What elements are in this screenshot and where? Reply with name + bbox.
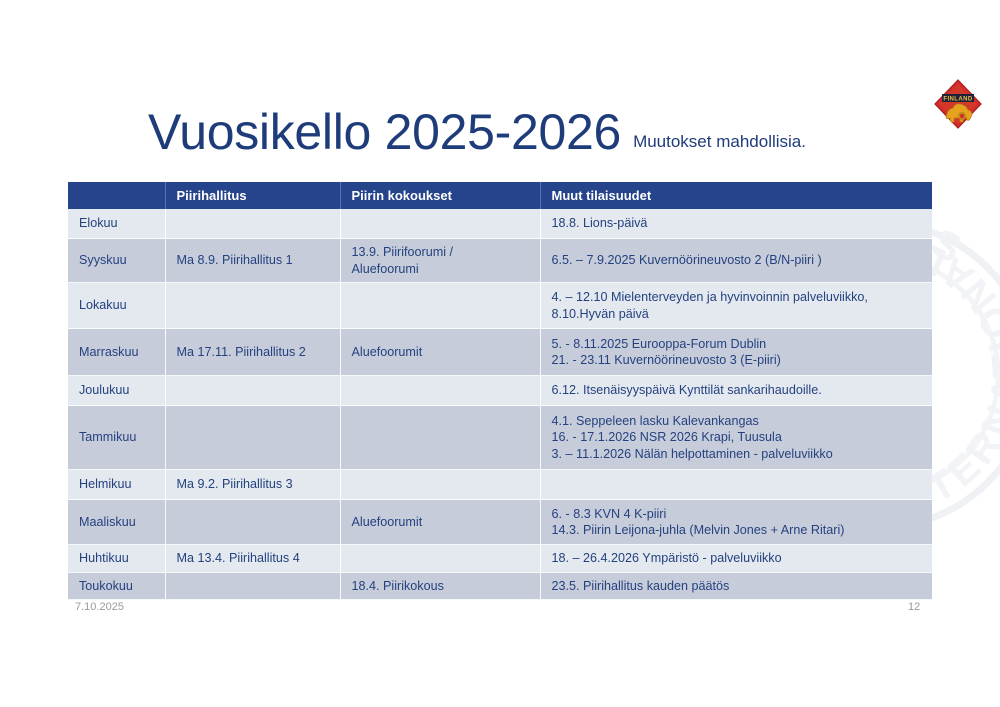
table-row: Toukokuu 18.4. Piirikokous 23.5. Piiriha… (68, 572, 932, 600)
column-header-month (68, 182, 165, 209)
table-row: Marraskuu Ma 17.11. Piirihallitus 2 Alue… (68, 329, 932, 376)
cell-other: 6.12. Itsenäisyyspäivä Kynttilät sankari… (540, 376, 932, 406)
footer-date: 7.10.2025 (75, 601, 124, 613)
cell-line: 8.10.Hyvän päivä (552, 306, 925, 323)
cell-meetings (340, 470, 540, 500)
cell-line: Aluefoorumi (352, 261, 532, 278)
cell-month: Huhtikuu (68, 545, 165, 573)
page-title: Vuosikello 2025-2026 (148, 103, 621, 161)
table-header-row: Piirihallitus Piirin kokoukset Muut tila… (68, 182, 932, 209)
cell-meetings (340, 209, 540, 239)
lions-club-finland-emblem: FINLAND (932, 78, 984, 132)
cell-board: Ma 9.2. Piirihallitus 3 (165, 470, 340, 500)
cell-board (165, 406, 340, 470)
cell-other: 6.5. – 7.9.2025 Kuvernöörineuvosto 2 (B/… (540, 239, 932, 283)
cell-other: 23.5. Piirihallitus kauden päätös (540, 572, 932, 600)
cell-line: 18. – 26.4.2026 Ympäristö - palveluviikk… (552, 550, 925, 567)
column-header-meetings: Piirin kokoukset (340, 182, 540, 209)
footer-page-number: 12 (908, 601, 920, 613)
cell-board: Ma 8.9. Piirihallitus 1 (165, 239, 340, 283)
table-row: Maaliskuu Aluefoorumit 6. - 8.3 KVN 4 K-… (68, 500, 932, 545)
cell-month: Tammikuu (68, 406, 165, 470)
cell-month: Joulukuu (68, 376, 165, 406)
cell-month: Marraskuu (68, 329, 165, 376)
svg-text:FINLAND: FINLAND (943, 97, 972, 103)
cell-line: 13.9. Piirifoorumi / (352, 244, 532, 261)
cell-line: 14.3. Piirin Leijona-juhla (Melvin Jones… (552, 522, 925, 539)
cell-other: 4. – 12.10 Mielenterveyden ja hyvinvoinn… (540, 283, 932, 329)
cell-board (165, 283, 340, 329)
table-row: Huhtikuu Ma 13.4. Piirihallitus 4 18. – … (68, 545, 932, 573)
cell-other: 6. - 8.3 KVN 4 K-piiri14.3. Piirin Leijo… (540, 500, 932, 545)
cell-meetings (340, 376, 540, 406)
slide-canvas: INTERNATIONAL LIONS FINLAND Vuosikello 2… (0, 0, 1000, 707)
cell-other: 5. - 8.11.2025 Eurooppa-Forum Dublin21. … (540, 329, 932, 376)
cell-meetings: Aluefoorumit (340, 500, 540, 545)
column-header-other: Muut tilaisuudet (540, 182, 932, 209)
cell-board (165, 500, 340, 545)
cell-other (540, 470, 932, 500)
table-row: Syyskuu Ma 8.9. Piirihallitus 1 13.9. Pi… (68, 239, 932, 283)
cell-board (165, 572, 340, 600)
cell-meetings: Aluefoorumit (340, 329, 540, 376)
cell-month: Toukokuu (68, 572, 165, 600)
cell-month: Elokuu (68, 209, 165, 239)
table-row: Joulukuu 6.12. Itsenäisyyspäivä Kynttilä… (68, 376, 932, 406)
cell-month: Helmikuu (68, 470, 165, 500)
cell-line: 6. - 8.3 KVN 4 K-piiri (552, 506, 925, 523)
cell-line: 4.1. Seppeleen lasku Kalevankangas (552, 413, 925, 430)
cell-line: 16. - 17.1.2026 NSR 2026 Krapi, Tuusula (552, 429, 925, 446)
cell-board (165, 376, 340, 406)
table-row: Helmikuu Ma 9.2. Piirihallitus 3 (68, 470, 932, 500)
cell-month: Maaliskuu (68, 500, 165, 545)
cell-month: Lokakuu (68, 283, 165, 329)
cell-line: 23.5. Piirihallitus kauden päätös (552, 578, 925, 595)
cell-meetings (340, 545, 540, 573)
cell-meetings (340, 283, 540, 329)
cell-board (165, 209, 340, 239)
cell-line: 4. – 12.10 Mielenterveyden ja hyvinvoinn… (552, 289, 925, 306)
table-row: Tammikuu 4.1. Seppeleen lasku Kalevankan… (68, 406, 932, 470)
cell-line: 6.5. – 7.9.2025 Kuvernöörineuvosto 2 (B/… (552, 252, 925, 269)
table-row: Elokuu 18.8. Lions-päivä (68, 209, 932, 239)
vuosikello-table: Piirihallitus Piirin kokoukset Muut tila… (68, 182, 932, 600)
title-block: Vuosikello 2025-2026Muutokset mahdollisi… (148, 103, 806, 161)
page-subtitle: Muutokset mahdollisia. (633, 132, 806, 152)
table-row: Lokakuu 4. – 12.10 Mielenterveyden ja hy… (68, 283, 932, 329)
cell-other: 18.8. Lions-päivä (540, 209, 932, 239)
cell-meetings (340, 406, 540, 470)
cell-line: 5. - 8.11.2025 Eurooppa-Forum Dublin (552, 336, 925, 353)
cell-line: Aluefoorumit (352, 514, 532, 531)
cell-meetings: 18.4. Piirikokous (340, 572, 540, 600)
cell-meetings: 13.9. Piirifoorumi /Aluefoorumi (340, 239, 540, 283)
cell-line: 6.12. Itsenäisyyspäivä Kynttilät sankari… (552, 382, 925, 399)
cell-line: 18.8. Lions-päivä (552, 215, 925, 232)
cell-other: 4.1. Seppeleen lasku Kalevankangas16. - … (540, 406, 932, 470)
cell-line: Aluefoorumit (352, 344, 532, 361)
cell-line: 3. – 11.1.2026 Nälän helpottaminen - pal… (552, 446, 925, 463)
cell-month: Syyskuu (68, 239, 165, 283)
cell-line: 18.4. Piirikokous (352, 578, 532, 595)
column-header-board: Piirihallitus (165, 182, 340, 209)
cell-line: 21. - 23.11 Kuvernöörineuvosto 3 (E-piir… (552, 352, 925, 369)
cell-board: Ma 13.4. Piirihallitus 4 (165, 545, 340, 573)
cell-other: 18. – 26.4.2026 Ympäristö - palveluviikk… (540, 545, 932, 573)
cell-board: Ma 17.11. Piirihallitus 2 (165, 329, 340, 376)
